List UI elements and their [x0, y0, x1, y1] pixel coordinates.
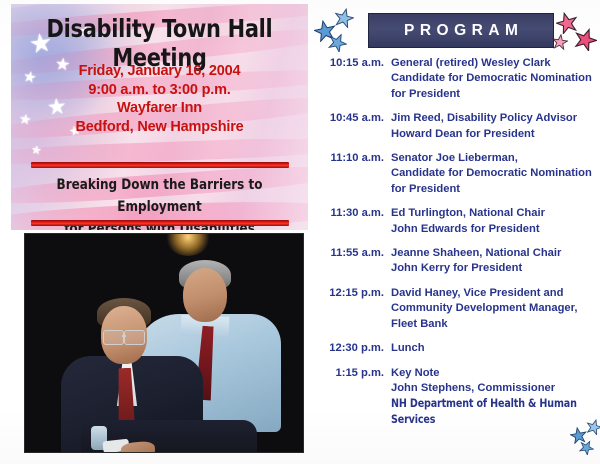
program-item-line: Ed Turlington, National Chair — [391, 206, 600, 221]
program-item-time: 11:30 a.m. — [312, 206, 391, 221]
program-item-line: Jim Reed, Disability Policy Advisor — [391, 111, 600, 126]
program-item: 11:55 a.m.Jeanne Shaheen, National Chair… — [312, 246, 600, 277]
program-item: 10:15 a.m.General (retired) Wesley Clark… — [312, 56, 600, 102]
blue-star-icon — [586, 419, 600, 435]
program-item-line: General (retired) Wesley Clark — [391, 56, 600, 71]
program-item-time: 10:15 a.m. — [312, 56, 391, 71]
program-item-description: David Haney, Vice President andCommunity… — [391, 286, 600, 332]
program-item-time: 11:55 a.m. — [312, 246, 391, 261]
eyeglasses-icon — [103, 330, 124, 345]
program-item-description: Ed Turlington, National ChairJohn Edward… — [391, 206, 600, 237]
program-item-description: General (retired) Wesley ClarkCandidate … — [391, 56, 600, 102]
program-item-line: Candidate for Democratic Nomination — [391, 71, 600, 86]
pink-star-icon — [574, 28, 597, 51]
blue-star-icon — [579, 440, 594, 455]
program-schedule-list: 10:15 a.m.General (retired) Wesley Clark… — [312, 56, 600, 436]
eyeglasses-icon — [124, 330, 145, 345]
event-venue: Wayfarer Inn — [11, 99, 308, 118]
program-item-line: for President — [391, 182, 600, 197]
program-item-line: for President — [391, 87, 600, 102]
divider-top — [31, 162, 289, 168]
program-item-line: David Haney, Vice President and — [391, 286, 600, 301]
program-item-line: John Stephens, Commissioner — [391, 381, 600, 396]
program-item-line: NH Department of Health & Human Services — [391, 396, 590, 427]
divider-bottom — [31, 220, 289, 226]
event-details: Friday, January 16, 2004 9:00 a.m. to 3:… — [11, 62, 308, 136]
event-date: Friday, January 16, 2004 — [11, 62, 308, 81]
blue-star-icon — [328, 33, 347, 52]
program-heading: PROGRAM — [399, 22, 524, 40]
pink-star-icon — [552, 34, 568, 50]
program-item-description: Jim Reed, Disability Policy AdvisorHowar… — [391, 111, 600, 142]
program-item-description: Jeanne Shaheen, National ChairJohn Kerry… — [391, 246, 600, 277]
program-item-time: 11:10 a.m. — [312, 151, 391, 166]
program-item-description: Lunch — [391, 341, 600, 356]
event-photograph — [25, 234, 303, 452]
program-item-line: John Kerry for President — [391, 261, 600, 276]
program-item: 12:30 p.m.Lunch — [312, 341, 600, 356]
blue-star-icon — [334, 8, 354, 28]
program-item-line: Community Development Manager, — [391, 301, 600, 316]
eyeglasses-bridge — [122, 335, 126, 337]
program-item: 11:30 a.m.Ed Turlington, National ChairJ… — [312, 206, 600, 237]
event-location: Bedford, New Hampshire — [11, 118, 308, 137]
program-item: 10:45 a.m.Jim Reed, Disability Policy Ad… — [312, 111, 600, 142]
left-column: ★ ★ ★ ★ ★ ★ ★ ★ Disability Town Hall Mee… — [0, 0, 312, 464]
photo-light-glow — [165, 234, 211, 256]
program-item-time: 10:45 a.m. — [312, 111, 391, 126]
program-item-line: Jeanne Shaheen, National Chair — [391, 246, 600, 261]
program-item-description: Key NoteJohn Stephens, CommissionerNH De… — [391, 366, 600, 428]
flag-banner: ★ ★ ★ ★ ★ ★ ★ ★ Disability Town Hall Mee… — [11, 4, 308, 230]
program-item-time: 12:30 p.m. — [312, 341, 391, 356]
program-item: 1:15 p.m.Key NoteJohn Stephens, Commissi… — [312, 366, 600, 428]
program-item-line: Howard Dean for President — [391, 127, 600, 142]
program-item: 12:15 p.m.David Haney, Vice President an… — [312, 286, 600, 332]
program-item-line: Candidate for Democratic Nomination — [391, 166, 600, 181]
program-item-line: Fleet Bank — [391, 317, 600, 332]
flyer-page: ★ ★ ★ ★ ★ ★ ★ ★ Disability Town Hall Mee… — [0, 0, 600, 464]
program-item-line: Lunch — [391, 341, 600, 356]
program-item-description: Senator Joe Lieberman,Candidate for Demo… — [391, 151, 600, 197]
flag-star-icon: ★ — [30, 143, 42, 156]
program-header-banner: PROGRAM — [368, 13, 554, 48]
right-column: PROGRAM 10:15 a.m.General (retired) Wesl… — [312, 0, 600, 464]
program-item-time: 12:15 p.m. — [312, 286, 391, 301]
program-item-line: John Edwards for President — [391, 222, 600, 237]
standing-man-face — [183, 268, 227, 322]
subtitle-line-1: Breaking Down the Barriers to Employment — [28, 174, 290, 218]
program-item-time: 1:15 p.m. — [312, 366, 391, 381]
program-item-line: Senator Joe Lieberman, — [391, 151, 600, 166]
program-item-line: Key Note — [391, 366, 600, 381]
program-item: 11:10 a.m.Senator Joe Lieberman,Candidat… — [312, 151, 600, 197]
event-time: 9:00 a.m. to 3:00 p.m. — [11, 81, 308, 100]
